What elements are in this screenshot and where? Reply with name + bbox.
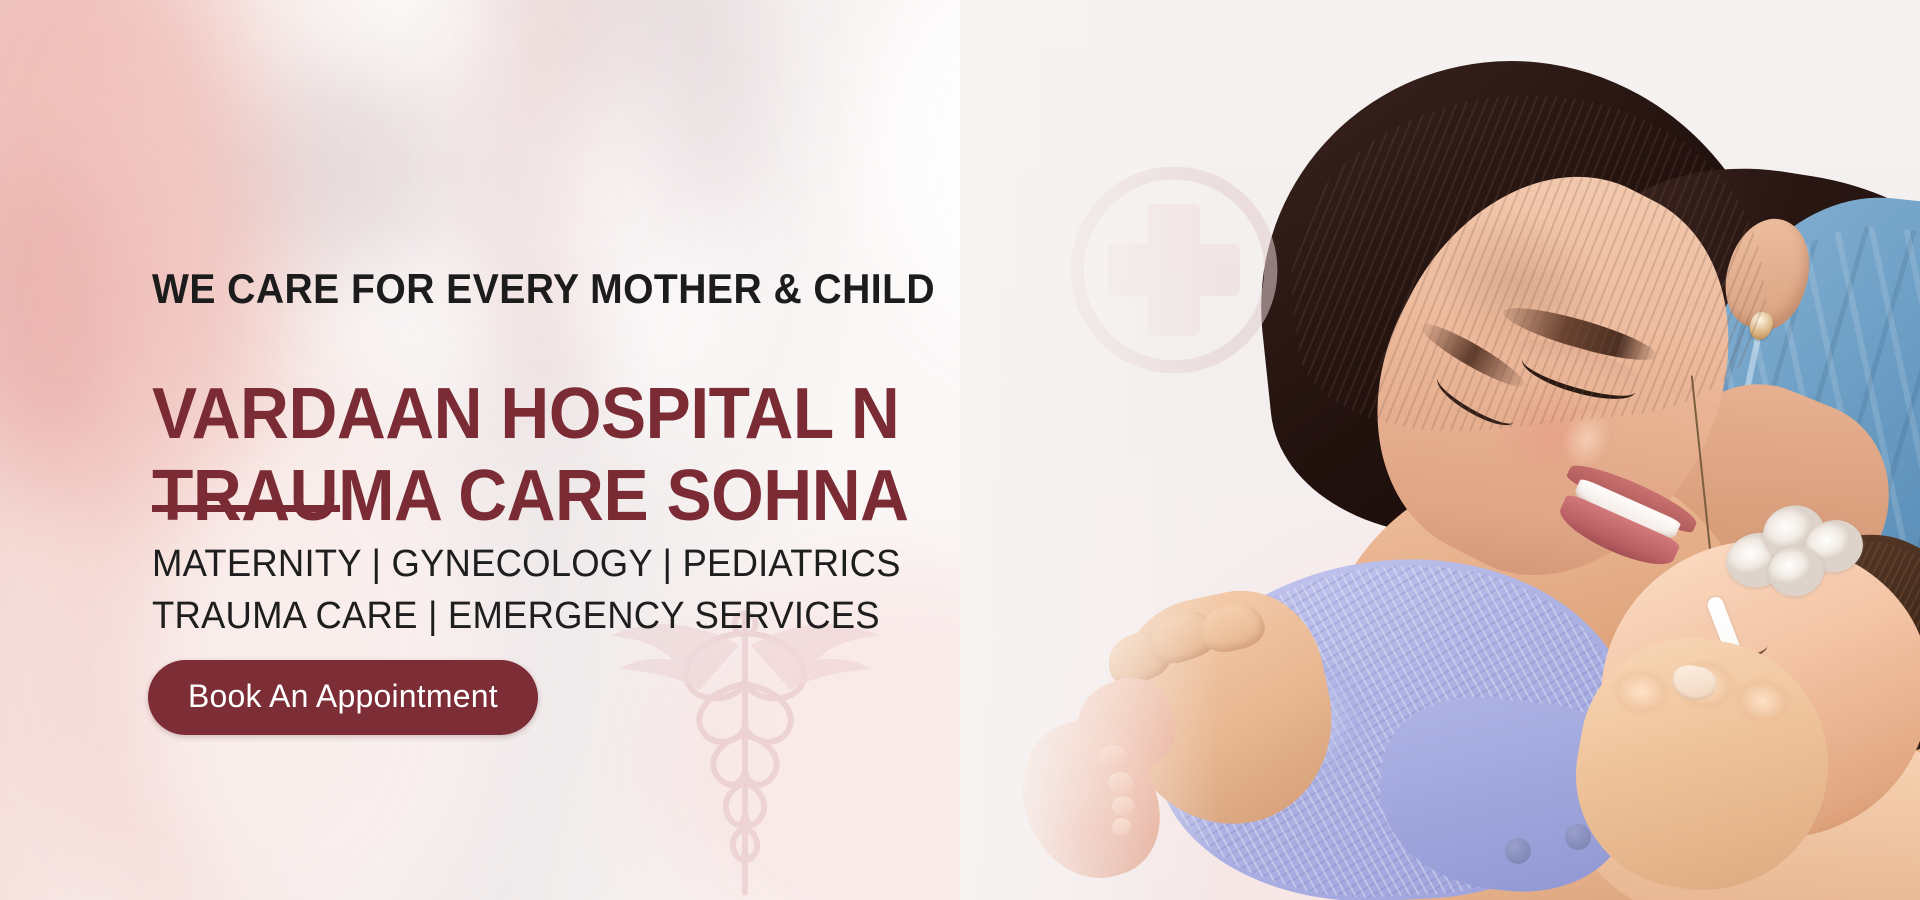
hero-headline: VARDAAN HOSPITAL N TRAUMA CARE SOHNA (152, 373, 909, 537)
headline-divider (152, 505, 340, 512)
book-appointment-button[interactable]: Book An Appointment (148, 660, 538, 735)
hero-eyebrow: WE CARE FOR EVERY MOTHER & CHILD (152, 265, 935, 313)
mother-and-baby-photo (960, 0, 1920, 900)
hero-content: WE CARE FOR EVERY MOTHER & CHILD VARDAAN… (152, 0, 1032, 900)
hero-services-list: MATERNITY | GYNECOLOGY | PEDIATRICS TRAU… (152, 538, 901, 642)
hero-banner: WE CARE FOR EVERY MOTHER & CHILD VARDAAN… (0, 0, 1920, 900)
